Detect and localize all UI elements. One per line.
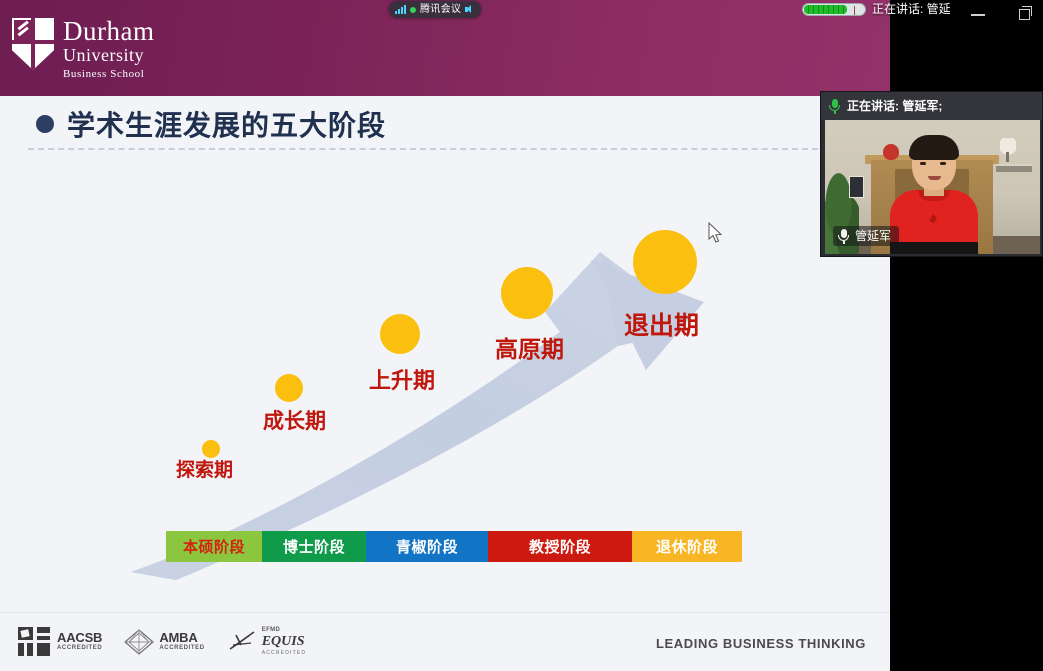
stage-bar-1: 本硕阶段	[166, 531, 262, 562]
stage-label-3: 上升期	[369, 363, 435, 395]
window-controls	[967, 0, 1035, 28]
equis-name: EQUIS	[262, 634, 305, 649]
stage-label-1: 探索期	[176, 455, 233, 482]
participant-name-badge: 管延军	[833, 226, 899, 246]
stage-bars: 本硕阶段博士阶段青椒阶段教授阶段退休阶段	[166, 531, 742, 562]
app-name-label: 腾讯会议	[420, 4, 461, 15]
green-status-dot	[410, 7, 416, 13]
stage-label-5: 退出期	[624, 306, 699, 342]
accreditation-logos: AACSB ACCREDITED AMBA	[18, 626, 306, 657]
stage-bar-3: 青椒阶段	[366, 531, 488, 562]
efmd-label: EFMD	[262, 626, 281, 634]
ascending-arrow-graphic	[0, 100, 890, 600]
wall-picture-decor	[849, 176, 864, 198]
video-speaking-label: 正在讲话: 管延军;	[847, 99, 942, 113]
video-feed: 管延军	[825, 120, 1040, 254]
speaker-icon[interactable]	[465, 5, 474, 14]
screen-root: Durham University Business School 学术生涯发展…	[0, 0, 1043, 671]
lamp-decor	[1000, 138, 1016, 160]
stage-node-5	[633, 230, 697, 294]
equis-logo: EFMD EQUIS ACCREDITED	[227, 626, 307, 657]
aacsb-sub: ACCREDITED	[57, 644, 102, 653]
amba-logo: AMBA ACCREDITED	[124, 629, 204, 655]
shared-slide: Durham University Business School 学术生涯发展…	[0, 0, 890, 671]
restore-button[interactable]	[1013, 3, 1035, 25]
aacsb-name: AACSB	[57, 631, 102, 644]
stage-label-2: 成长期	[263, 405, 326, 435]
mouse-cursor	[708, 222, 724, 244]
microphone-icon	[829, 99, 840, 114]
equis-swoosh-icon	[227, 629, 257, 655]
tencent-meeting-pill[interactable]: 腾讯会议	[389, 1, 481, 18]
brand-line-3: Business School	[63, 66, 154, 82]
durham-university-logo: Durham University Business School	[12, 18, 154, 82]
book-decor	[996, 164, 1032, 172]
stage-node-3	[380, 314, 420, 354]
aacsb-logo: AACSB ACCREDITED	[18, 627, 102, 657]
stage-bar-4: 教授阶段	[488, 531, 632, 562]
speaker-video-panel[interactable]: 正在讲话: 管延军;	[820, 91, 1043, 257]
brand-line-1: Durham	[63, 18, 154, 45]
amba-name: AMBA	[159, 631, 204, 644]
stage-node-2	[275, 374, 303, 402]
stage-bar-2: 博士阶段	[262, 531, 366, 562]
video-panel-header: 正在讲话: 管延军;	[821, 92, 1042, 120]
shield-icon	[12, 18, 54, 70]
stage-label-4: 高原期	[495, 330, 564, 364]
amba-sub: ACCREDITED	[159, 644, 204, 653]
minimize-button[interactable]	[967, 3, 989, 25]
microphone-icon-small	[838, 229, 849, 244]
participant-name: 管延军	[855, 229, 891, 243]
participant-video-figure	[888, 138, 980, 254]
equis-sub: ACCREDITED	[262, 649, 307, 657]
brand-tagline: LEADING BUSINESS THINKING	[656, 636, 866, 651]
footer-divider	[0, 612, 890, 613]
signal-bars-icon	[395, 5, 406, 14]
brand-line-2: University	[63, 45, 154, 66]
aacsb-mark-icon	[18, 627, 52, 657]
stage-bar-5: 退休阶段	[632, 531, 742, 562]
amba-diamond-icon	[124, 629, 154, 655]
stage-node-4	[501, 267, 553, 319]
